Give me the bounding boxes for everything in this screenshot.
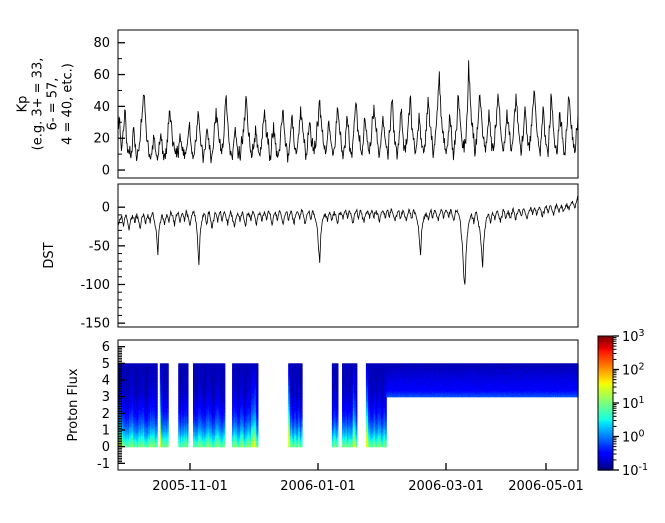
spectrogram-cell (156, 445, 158, 447)
kp-tick-label: 80 (93, 36, 110, 51)
dst-tick-label: -50 (89, 239, 110, 254)
stacked-timeseries-figure: 0204060800-50-100-150-101234562005-11-01… (0, 0, 665, 523)
panel-kp (118, 30, 578, 178)
dst-tick-label: -150 (80, 317, 110, 332)
spectrogram-cell (167, 445, 169, 447)
kp-tick-label: 20 (93, 132, 110, 147)
dst-tick-label: -100 (80, 278, 110, 293)
proton-flux-spectrogram (118, 363, 579, 447)
kp-series-line (118, 60, 578, 163)
spectrogram-cell (187, 445, 189, 447)
panel-dst (118, 184, 578, 327)
dst-series-line (118, 197, 578, 284)
kp-tick-label: 60 (93, 68, 110, 83)
dst-tick-label: 0 (102, 201, 110, 216)
figure-canvas: 0204060800-50-100-150-101234562005-11-01… (0, 0, 665, 523)
kp-tick-label: 0 (102, 164, 110, 179)
kp-tick-label: 40 (93, 100, 110, 115)
